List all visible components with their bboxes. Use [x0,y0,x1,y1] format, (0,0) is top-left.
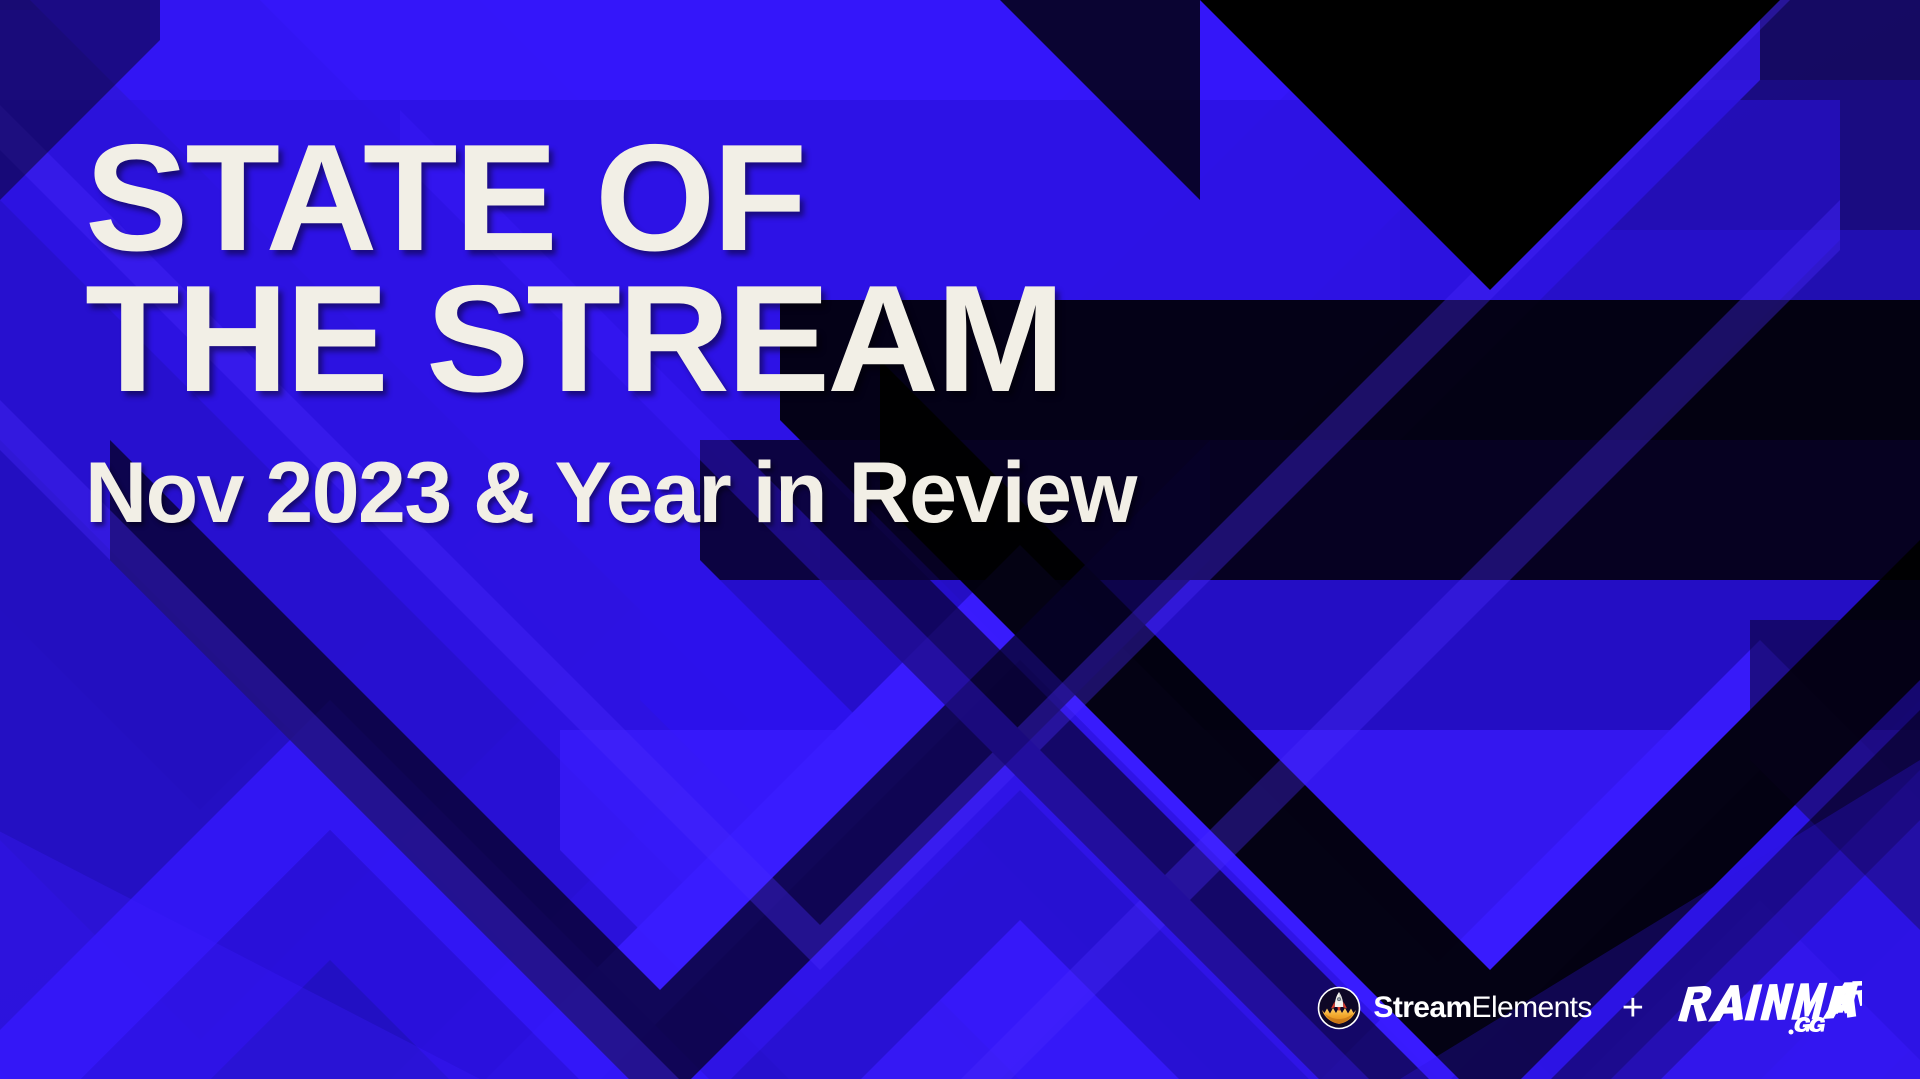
streamelements-logo[interactable]: StreamElements [1317,986,1591,1030]
rocket-icon [1317,986,1361,1030]
rainmaker-logo[interactable] [1674,977,1862,1039]
streamelements-wordmark: StreamElements [1373,993,1591,1023]
poster-text-block: STATE OF THE STREAM Nov 2023 & Year in R… [85,130,1535,536]
streamelements-word-bold: Stream [1373,991,1471,1024]
logo-lockup: StreamElements + [1317,977,1862,1039]
page-title-line-2: THE STREAM [85,271,1564,408]
page-subtitle: Nov 2023 & Year in Review [85,450,1535,536]
poster-canvas: STATE OF THE STREAM Nov 2023 & Year in R… [0,0,1920,1079]
page-title-line-1: STATE OF [85,130,1564,267]
plus-separator-icon: + [1618,989,1648,1027]
streamelements-word-light: Elements [1472,991,1592,1024]
